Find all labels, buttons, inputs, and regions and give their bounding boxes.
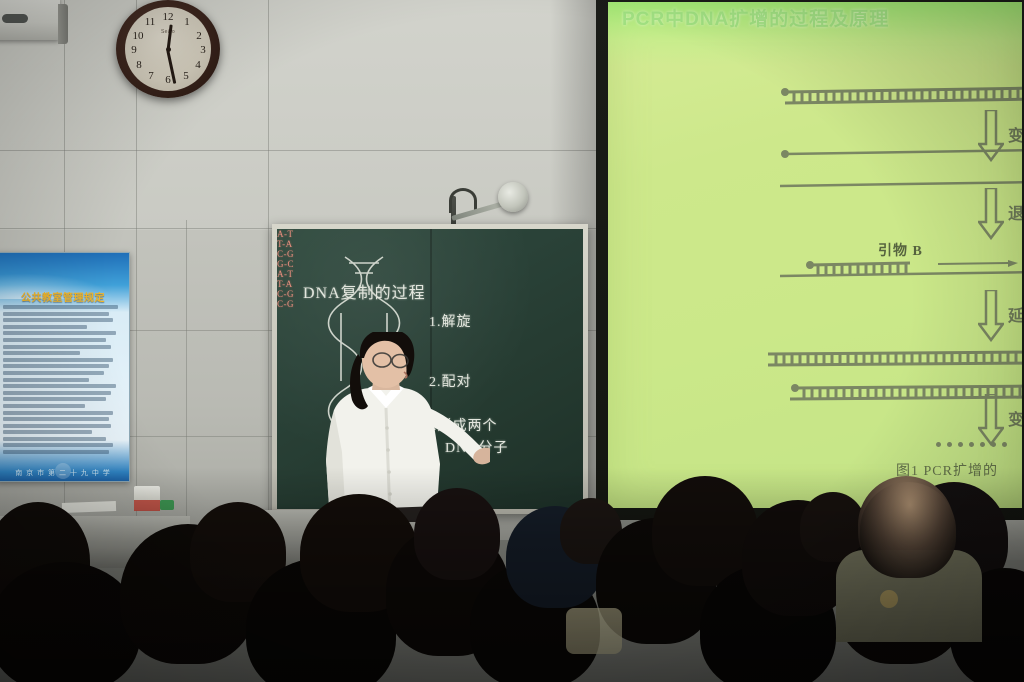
down-arrow-icon-2 <box>978 188 1004 240</box>
classroom-scene: Seiko 12 1 2 3 4 5 6 7 8 9 10 11 公共教室管理规… <box>0 0 1024 682</box>
slide-step-label-4: 变性 <box>1008 406 1022 430</box>
poster-text-line <box>3 338 106 342</box>
slide-step-label-3: 延伸 <box>1008 302 1022 326</box>
tile-seam <box>268 0 269 540</box>
poster-title: 公共教室管理规定 <box>0 289 129 304</box>
clock-center-pin <box>166 47 171 52</box>
poster-text-line <box>3 318 113 322</box>
audience-area <box>0 467 1024 682</box>
poster-text-line <box>3 358 113 362</box>
dna-single-strand-row-2a <box>780 148 1022 160</box>
clock-numeral: 8 <box>132 59 146 71</box>
audience-head <box>414 488 500 580</box>
poster-text-line <box>3 424 111 428</box>
slide-dot <box>980 442 985 447</box>
poster-text-line <box>3 364 109 368</box>
slide-dot <box>1002 442 1007 447</box>
clock-numeral: 2 <box>192 30 206 42</box>
clock-numeral: 4 <box>191 59 205 71</box>
poster-text-line <box>3 325 87 329</box>
hair-clip <box>880 590 898 608</box>
lamp-head <box>498 182 528 212</box>
clock-numeral: 3 <box>196 44 210 56</box>
clock-face: Seiko 12 1 2 3 4 5 6 7 8 9 10 11 <box>125 7 211 91</box>
poster-text-line <box>3 371 104 375</box>
slide-dot <box>936 442 941 447</box>
slide-dot <box>947 442 952 447</box>
dna-duplex-row-1 <box>780 86 1022 108</box>
poster-text-line <box>3 430 92 434</box>
air-conditioner <box>0 0 60 40</box>
poster-text-line <box>3 450 109 454</box>
poster-text-line <box>3 305 118 309</box>
wall-clock: Seiko 12 1 2 3 4 5 6 7 8 9 10 11 <box>116 0 220 98</box>
tile-seam <box>0 150 620 151</box>
slide-step-label-2: 退火 <box>1008 200 1022 224</box>
down-arrow-icon-4 <box>978 394 1004 446</box>
classroom-rules-poster: 公共教室管理规定 南 京 市 第 二 十 九 中 学 <box>0 252 130 482</box>
slide-dot <box>991 442 996 447</box>
slide-dot <box>958 442 963 447</box>
slide-dot <box>969 442 974 447</box>
ac-badge <box>2 14 28 23</box>
audience-head <box>0 562 140 682</box>
dna-primer-row-3 <box>780 260 1022 282</box>
poster-text-line <box>3 437 106 441</box>
poster-text-line <box>3 443 113 447</box>
ac-side-panel <box>58 4 68 44</box>
dna-duplex-row-4 <box>768 350 1022 372</box>
poster-text-line <box>3 391 111 395</box>
projection-screen-frame: PCR中DNA扩增的过程及原理 <box>596 0 1024 520</box>
clock-numeral: 10 <box>131 30 145 42</box>
poster-text-line <box>3 417 109 421</box>
clock-numeral: 12 <box>161 11 175 23</box>
blackboard-item-1: 1.解旋 <box>429 311 472 331</box>
clock-numeral: 7 <box>144 70 158 82</box>
poster-text-line <box>3 397 106 401</box>
poster-text-line <box>3 351 80 355</box>
poster-text-lines <box>3 305 123 455</box>
audience-head-balding-overlay <box>860 482 956 578</box>
audience-paper <box>566 608 622 654</box>
slide-primer-label: 引物 B <box>878 240 923 260</box>
slide-step-label-1: 变性 <box>1008 122 1022 146</box>
slide-continuation-dots <box>936 442 1007 447</box>
poster-text-line <box>3 384 116 388</box>
clock-numeral: 1 <box>180 16 194 28</box>
projection-screen: PCR中DNA扩增的过程及原理 <box>608 2 1022 508</box>
poster-text-line <box>3 312 109 316</box>
poster-text-line <box>3 345 111 349</box>
clock-numeral: 9 <box>127 44 141 56</box>
slide-title: PCR中DNA扩增的过程及原理 <box>622 4 1022 31</box>
clock-numeral: 11 <box>143 16 157 28</box>
down-arrow-icon-3 <box>978 290 1004 342</box>
poster-text-line <box>3 404 85 408</box>
clock-numeral: 5 <box>179 70 193 82</box>
poster-text-line <box>3 331 116 335</box>
poster-text-line <box>3 411 113 415</box>
poster-text-line <box>3 378 89 382</box>
